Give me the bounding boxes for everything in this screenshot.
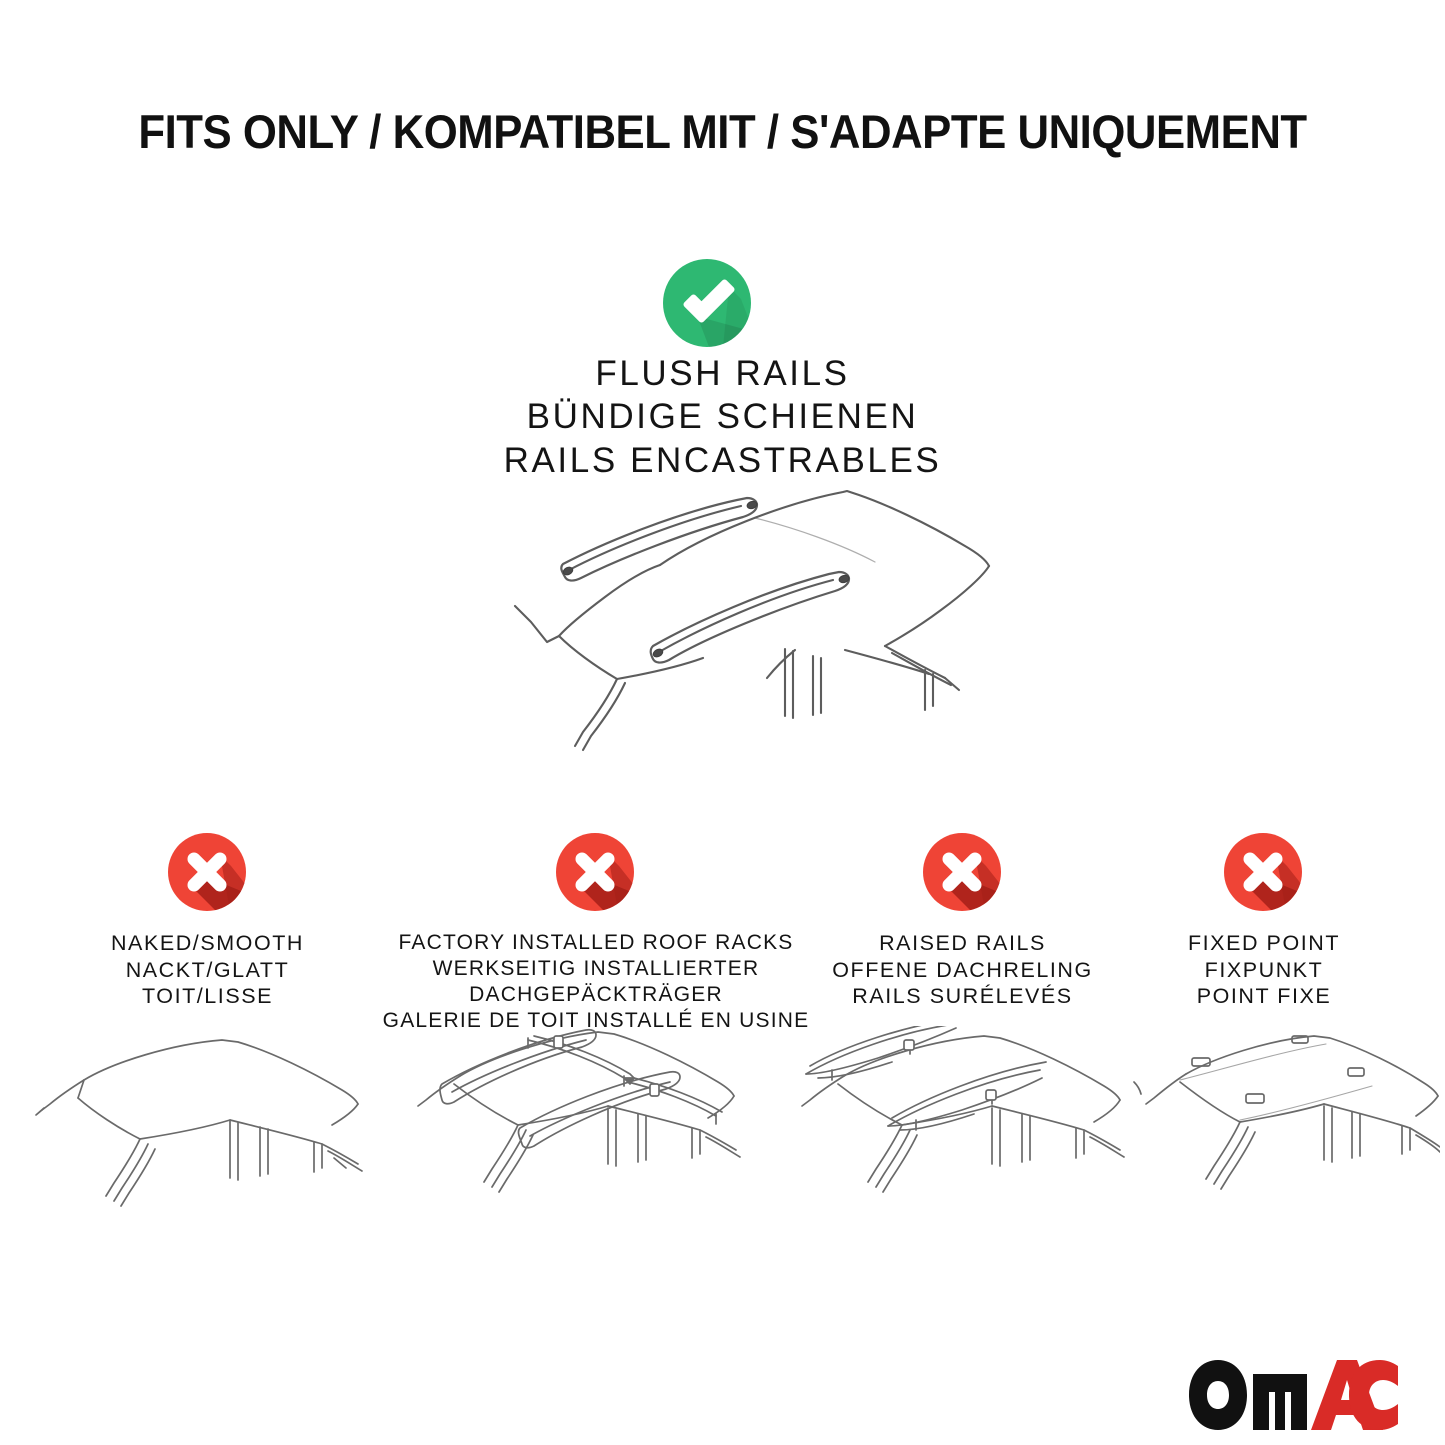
car-roof-raised-rails-illustration xyxy=(792,1026,1142,1231)
cross-glyph xyxy=(1224,833,1302,911)
incompatible-label-3: RAISED RAILS OFFENE DACHRELING RAILS SUR… xyxy=(820,930,1105,1010)
incompatible-label-3-line-2: OFFENE DACHRELING xyxy=(820,957,1105,984)
check-glyph xyxy=(663,259,751,347)
car-roof-fixed-point-illustration xyxy=(1140,1028,1440,1228)
incompatible-label-2-line-3: DACHGEPÄCKTRÄGER xyxy=(371,982,821,1008)
incompatible-label-4-line-2: FIXPUNKT xyxy=(1128,957,1400,984)
incompatible-label-1-line-2: NACKT/GLATT xyxy=(0,957,415,984)
cross-glyph xyxy=(556,833,634,911)
car-roof-factory-installed-roof-racks-illustration xyxy=(402,1018,752,1228)
incompatible-label-2-line-1: FACTORY INSTALLED ROOF RACKS xyxy=(371,930,821,956)
cross-circle-icon xyxy=(556,833,634,911)
compatible-label-line-1: FLUSH RAILS xyxy=(0,352,1445,395)
page-title: FITS ONLY / KOMPATIBEL MIT / S'ADAPTE UN… xyxy=(51,104,1395,159)
car-roof-with-flush-rails-illustration xyxy=(455,470,1015,760)
cross-glyph xyxy=(923,833,1001,911)
fitment-infographic: FITS ONLY / KOMPATIBEL MIT / S'ADAPTE UN… xyxy=(0,0,1445,1445)
incompatible-label-4-line-1: FIXED POINT xyxy=(1128,930,1400,957)
compatible-label-line-2: BÜNDIGE SCHIENEN xyxy=(0,395,1445,438)
cross-glyph xyxy=(168,833,246,911)
incompatible-label-1-line-1: NAKED/SMOOTH xyxy=(0,930,415,957)
cross-circle-icon xyxy=(1224,833,1302,911)
cross-circle-icon xyxy=(168,833,246,911)
omac-logo-mark xyxy=(1185,1352,1400,1438)
incompatible-label-4-line-3: POINT FIXE xyxy=(1128,983,1400,1010)
cross-circle-icon xyxy=(923,833,1001,911)
compatible-label: FLUSH RAILS BÜNDIGE SCHIENEN RAILS ENCAS… xyxy=(0,352,1445,482)
omac-logo xyxy=(1185,1352,1400,1438)
incompatible-label-3-line-1: RAISED RAILS xyxy=(820,930,1105,957)
check-circle-icon xyxy=(663,259,751,347)
car-roof-naked-smooth-illustration xyxy=(22,1028,372,1228)
incompatible-label-1-line-3: TOIT/LISSE xyxy=(0,983,415,1010)
incompatible-label-4: FIXED POINT FIXPUNKT POINT FIXE xyxy=(1128,930,1400,1010)
incompatible-label-3-line-3: RAILS SURÉLEVÉS xyxy=(820,983,1105,1010)
incompatible-label-2-line-2: WERKSEITIG INSTALLIERTER xyxy=(371,956,821,982)
incompatible-label-1: NAKED/SMOOTH NACKT/GLATT TOIT/LISSE xyxy=(0,930,415,1010)
